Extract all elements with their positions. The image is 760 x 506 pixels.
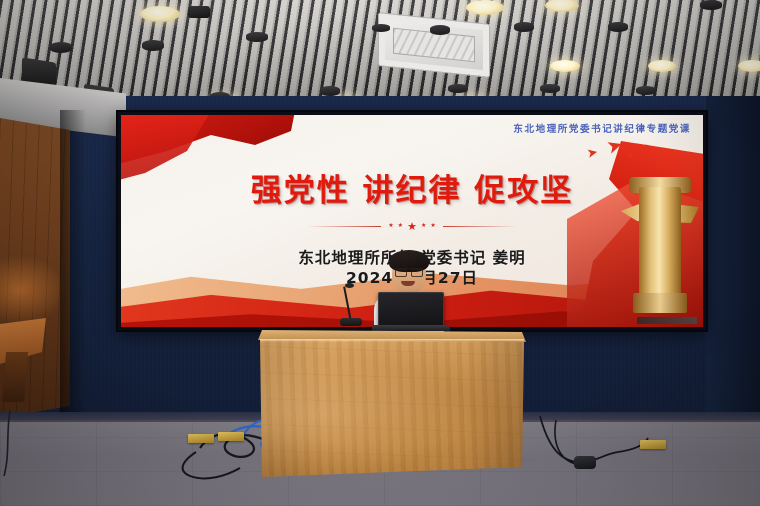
star-icon: ★ [407, 221, 417, 232]
star-icon: ★ [421, 223, 426, 229]
left-wall-cable [4, 410, 10, 476]
star-divider: ★ ★ ★ ★ ★ [121, 219, 703, 233]
ceiling-speaker [320, 86, 340, 96]
ceiling-downlight [466, 0, 504, 15]
floor-power-box [188, 434, 214, 443]
star-icon: ★ [398, 223, 403, 229]
photo-scene: ➤ ➤ ➤ ➤ ➤ 东北地理所党委书记讲纪律专题党课 强党性 讲纪律 促攻坚 ★… [0, 0, 760, 506]
star-icon: ★ [388, 223, 393, 229]
star-icon: ★ [430, 223, 435, 229]
ceiling-speaker [700, 0, 722, 10]
left-wood-highlight [0, 255, 66, 325]
floor-power-box [218, 432, 244, 441]
microphone-head [345, 283, 354, 288]
desk-edge-highlight [260, 339, 524, 342]
stars-group: ★ ★ ★ ★ ★ [388, 221, 435, 232]
ceiling-speaker [514, 22, 534, 32]
ceiling-downlight [648, 60, 676, 72]
ceiling-speaker [636, 86, 656, 95]
ceiling-speaker [608, 22, 628, 32]
ceiling-downlight [550, 60, 580, 72]
ceiling-speaker [448, 84, 468, 93]
laptop-screen [378, 292, 444, 328]
hanging-speaker [188, 6, 210, 18]
microphone-base [340, 318, 362, 326]
black-cable [183, 452, 240, 478]
column-base [633, 293, 687, 313]
dove-icon: ➤ [586, 146, 599, 161]
floor-power-box [640, 440, 666, 449]
ceiling-speaker [540, 84, 560, 93]
ceiling-speaker [372, 24, 390, 32]
dove-icon: ➤ [604, 135, 625, 158]
dove-icon: ➤ [656, 154, 664, 162]
slide-main-title: 强党性 讲纪律 促攻坚 [121, 165, 703, 210]
glasses-icon [395, 268, 423, 275]
black-cable-right [555, 420, 576, 464]
ceiling-speaker [142, 40, 164, 51]
ceiling-speaker [430, 25, 450, 35]
divider-line-right [443, 226, 517, 227]
ceiling-speaker [50, 42, 72, 53]
ceiling-downlight [140, 6, 180, 22]
presenter-desk [258, 330, 526, 478]
divider-line-left [307, 226, 381, 227]
dove-icon: ➤ [625, 150, 637, 162]
corner-shadow [60, 110, 86, 420]
screen-status-bar [637, 317, 697, 324]
floor-equipment-box [574, 456, 596, 469]
right-wall [706, 96, 760, 426]
ceiling-speaker [246, 32, 268, 42]
ceiling-downlight [738, 60, 760, 72]
slide-header-text: 东北地理所党委书记讲纪律专题党课 [513, 121, 691, 135]
desk-front-panel [260, 339, 524, 477]
dove-icon: ➤ [644, 143, 652, 152]
